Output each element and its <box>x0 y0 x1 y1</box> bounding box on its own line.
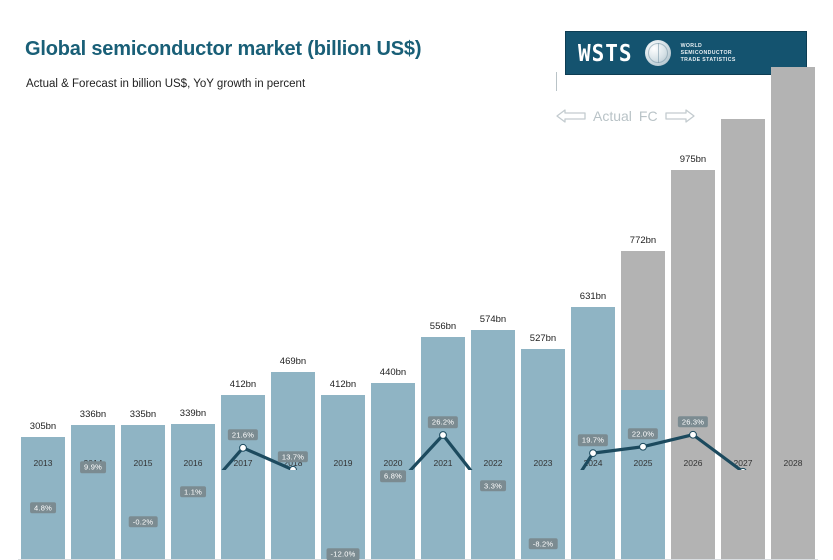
growth-value-label-2024: 19.7% <box>578 434 608 446</box>
growth-value-label-2022: 3.3% <box>480 480 506 492</box>
growth-value-label-2015: -0.2% <box>129 516 158 528</box>
growth-marker-2024 <box>590 450 597 457</box>
growth-marker-2017 <box>240 444 247 451</box>
growth-value-label-2020: 6.8% <box>380 470 406 482</box>
growth-value-label-2019: -12.0% <box>327 549 360 560</box>
growth-value-label-2013: 4.8% <box>30 502 56 514</box>
page-title: Global semiconductor market (billion US$… <box>25 38 421 61</box>
growth-marker-2025 <box>640 443 647 450</box>
growth-value-label-2014: 9.9% <box>80 462 106 474</box>
globe-icon <box>645 40 671 66</box>
growth-value-label-2023: -8.2% <box>529 538 558 550</box>
growth-value-label-2017: 21.6% <box>228 429 258 441</box>
chart-page: Global semiconductor market (billion US$… <box>0 0 833 501</box>
growth-value-label-2016: 1.1% <box>180 486 206 498</box>
growth-line-layer <box>0 95 833 470</box>
growth-value-label-2018: 13.7% <box>278 451 308 463</box>
wsts-wordmark: WSTS <box>578 40 633 67</box>
wsts-tagline-line1: WORLD <box>681 43 736 50</box>
wsts-tagline-line3: TRADE STATISTICS <box>681 57 736 64</box>
growth-marker-2018 <box>290 466 297 470</box>
growth-value-label-2026: 26.3% <box>678 416 708 428</box>
wsts-tagline: WORLD SEMICONDUCTOR TRADE STATISTICS <box>681 43 736 64</box>
growth-line <box>43 435 793 470</box>
page-subtitle: Actual & Forecast in billion US$, YoY gr… <box>26 78 305 90</box>
growth-marker-2021 <box>440 432 447 439</box>
chart-plot-area: 305bn2013336bn2014335bn2015339bn2016412b… <box>0 95 833 470</box>
growth-value-label-2021: 26.2% <box>428 416 458 428</box>
wsts-tagline-line2: SEMICONDUCTOR <box>681 50 736 57</box>
legend-divider <box>556 72 557 91</box>
growth-marker-2026 <box>690 431 697 438</box>
growth-value-label-2025: 22.0% <box>628 428 658 440</box>
